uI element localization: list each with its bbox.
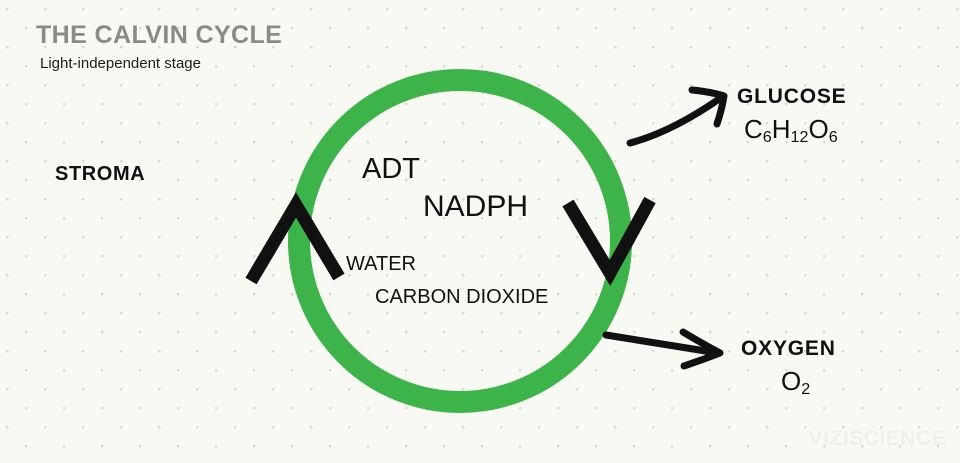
formula-element-h: H bbox=[772, 114, 791, 144]
cycle-inner-label-water: WATER bbox=[346, 253, 416, 276]
product-label-glucose: GLUCOSE bbox=[737, 85, 846, 109]
formula-element-o2: O bbox=[781, 366, 801, 396]
cycle-inner-label-nadph: NADPH bbox=[423, 190, 528, 224]
calvin-cycle-ring bbox=[299, 80, 621, 402]
formula-subscript-6a: 6 bbox=[763, 128, 772, 146]
formula-subscript-2: 2 bbox=[801, 380, 810, 398]
cycle-inner-label-adt: ADT bbox=[362, 153, 420, 186]
cycle-diagram-svg bbox=[0, 0, 960, 463]
formula-subscript-6b: 6 bbox=[829, 128, 838, 146]
watermark: VIZISCIENCE bbox=[809, 427, 946, 451]
product-label-oxygen: OXYGEN bbox=[741, 337, 836, 361]
diagram-canvas: THE CALVIN CYCLE Light-independent stage… bbox=[0, 0, 960, 463]
formula-subscript-12: 12 bbox=[791, 128, 809, 146]
product-formula-oxygen: O2 bbox=[781, 366, 810, 397]
formula-element-o: O bbox=[808, 114, 828, 144]
arrow-up-right-icon bbox=[630, 90, 724, 143]
cycle-inner-label-carbon-dioxide: CARBON DIOXIDE bbox=[375, 286, 548, 309]
product-formula-glucose: C6H12O6 bbox=[744, 114, 838, 145]
formula-element-c: C bbox=[744, 114, 763, 144]
arrow-right-icon bbox=[606, 332, 720, 366]
